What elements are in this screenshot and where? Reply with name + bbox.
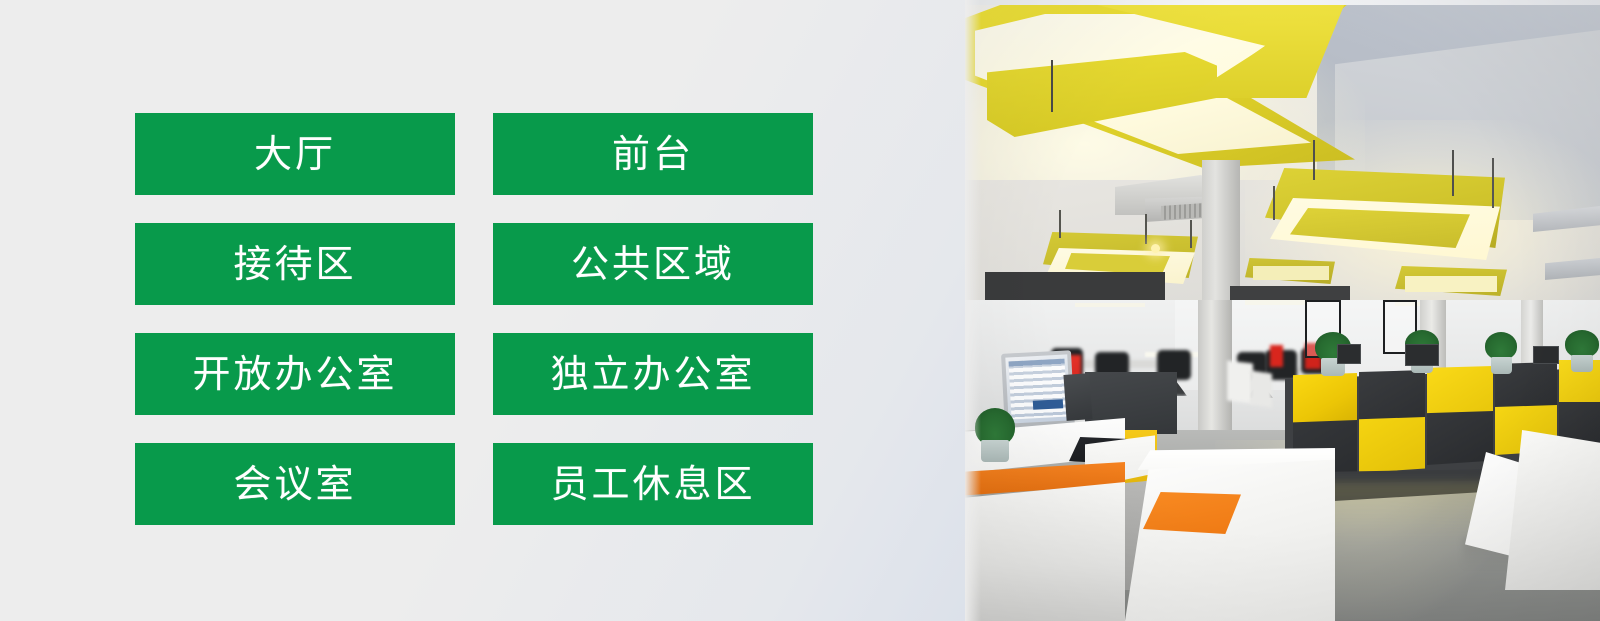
cubicle-panel-yellow <box>1293 372 1357 424</box>
potted-plant-leaves <box>1565 330 1599 358</box>
page-root: 大厅 前台 接待区 公共区域 开放办公室 独立办公室 会议室 员工休息区 <box>0 0 1600 621</box>
plant-pot <box>1571 355 1593 372</box>
yellow-pendant-far-left-light <box>1253 266 1329 280</box>
yellow-pendant-far-right-light <box>1405 276 1497 292</box>
monitor-screen-content <box>1009 359 1068 420</box>
fixture-suspension-rod <box>1051 60 1053 112</box>
fixture-suspension-rod <box>1492 158 1494 208</box>
potted-plant-leaves <box>1485 332 1517 360</box>
fixture-suspension-rod <box>1313 140 1315 180</box>
cubicle-panel-dark <box>1427 411 1493 465</box>
ceiling-spot-light <box>1151 244 1160 253</box>
cubicle-panel-yellow <box>1359 417 1425 473</box>
cubicle-panel-dark <box>1359 370 1425 420</box>
reception-desk-left-front <box>965 482 1125 621</box>
secondary-monitor <box>1063 373 1092 421</box>
fixture-suspension-rod <box>1452 150 1454 196</box>
zone-button-meeting-room[interactable]: 会议室 <box>135 443 455 525</box>
zone-button-private-office[interactable]: 独立办公室 <box>493 333 813 415</box>
background-panel <box>1250 370 1272 407</box>
recessed-light-strip <box>1245 300 1305 305</box>
monitor-screen-highlight <box>1033 399 1063 410</box>
zone-button-grid: 大厅 前台 接待区 公共区域 开放办公室 独立办公室 会议室 员工休息区 <box>135 113 813 525</box>
workstation-monitor <box>1405 344 1439 366</box>
fixture-suspension-rod <box>1273 186 1275 220</box>
office-interior-photo <box>965 0 1600 621</box>
zone-button-lobby[interactable]: 大厅 <box>135 113 455 195</box>
photo-top-edge-highlight <box>965 0 1600 5</box>
zone-selection-panel: 大厅 前台 接待区 公共区域 开放办公室 独立办公室 会议室 员工休息区 <box>0 0 965 621</box>
orange-floor-mat <box>1143 492 1241 534</box>
zone-button-front-desk[interactable]: 前台 <box>493 113 813 195</box>
reception-desk-main-front <box>1125 448 1335 621</box>
fixture-suspension-rod <box>1190 220 1192 248</box>
zone-button-staff-lounge[interactable]: 员工休息区 <box>493 443 813 525</box>
zone-button-public-area[interactable]: 公共区域 <box>493 223 813 305</box>
cubicle-panel-yellow <box>1427 366 1493 414</box>
plant-pot-foreground <box>981 440 1009 462</box>
fixture-suspension-rod <box>1145 214 1147 244</box>
zone-button-reception-area[interactable]: 接待区 <box>135 223 455 305</box>
fixture-suspension-rod <box>1059 210 1061 238</box>
red-accent-box <box>1270 345 1283 367</box>
plant-pot <box>1491 357 1512 374</box>
zone-button-open-office[interactable]: 开放办公室 <box>135 333 455 415</box>
workstation-monitor <box>1533 346 1559 364</box>
recessed-light-strip <box>1075 303 1145 307</box>
workstation-monitor <box>1337 344 1361 364</box>
